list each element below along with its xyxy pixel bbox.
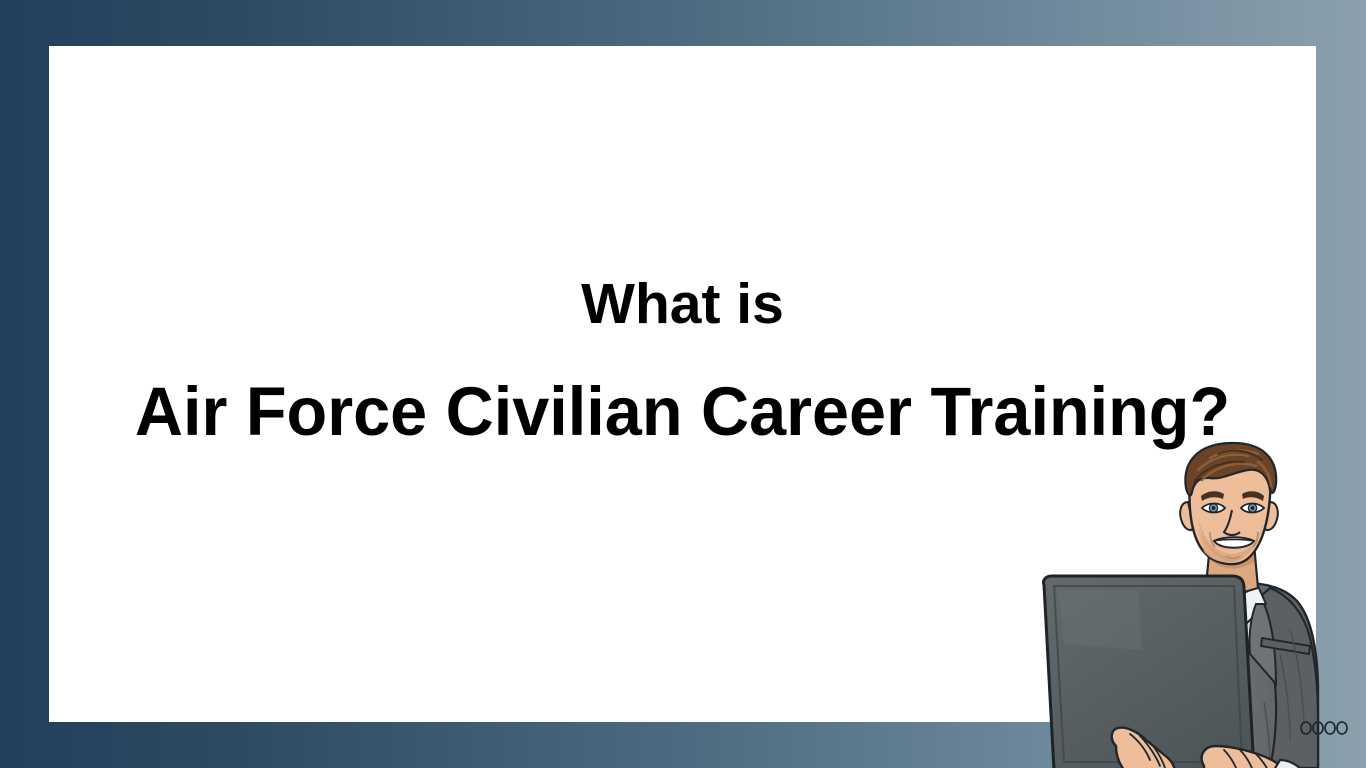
sleeve-buttons bbox=[1301, 722, 1347, 734]
left-hand bbox=[1112, 728, 1175, 768]
content-card bbox=[49, 46, 1316, 722]
slide-canvas: What is Air Force Civilian Career Traini… bbox=[0, 0, 1366, 768]
right-hand bbox=[1202, 746, 1304, 768]
